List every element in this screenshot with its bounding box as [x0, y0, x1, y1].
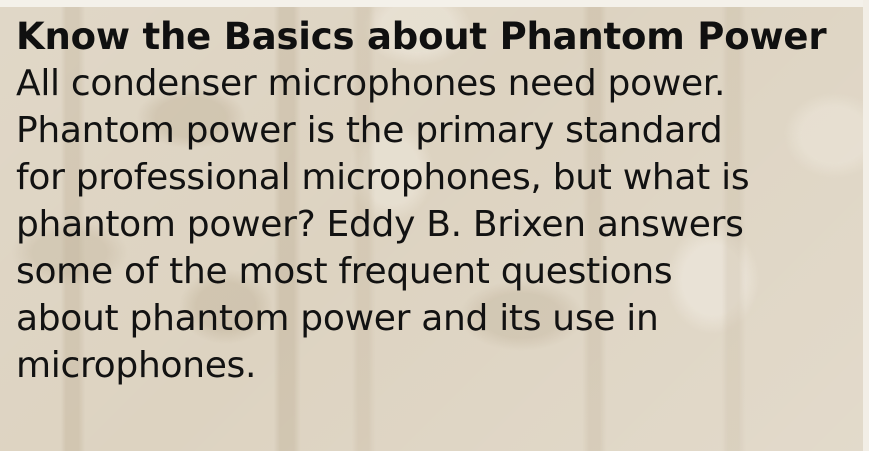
- body-line: microphones.: [16, 342, 855, 389]
- body-paragraph: All condenser microphones need power. Ph…: [16, 60, 855, 389]
- body-line: about phantom power and its use in: [16, 295, 855, 342]
- card-content: Know the Basics about Phantom Power All …: [16, 14, 855, 389]
- phantom-power-info-card: Know the Basics about Phantom Power All …: [0, 0, 869, 451]
- body-line: phantom power? Eddy B. Brixen answers: [16, 201, 855, 248]
- top-edge-strip: [0, 0, 869, 7]
- body-line: Phantom power is the primary standard: [16, 107, 855, 154]
- body-line: some of the most frequent questions: [16, 248, 855, 295]
- page-title: Know the Basics about Phantom Power: [16, 14, 855, 60]
- body-line: for professional microphones, but what i…: [16, 154, 855, 201]
- body-line: All condenser microphones need power.: [16, 60, 855, 107]
- right-edge-strip: [863, 0, 869, 451]
